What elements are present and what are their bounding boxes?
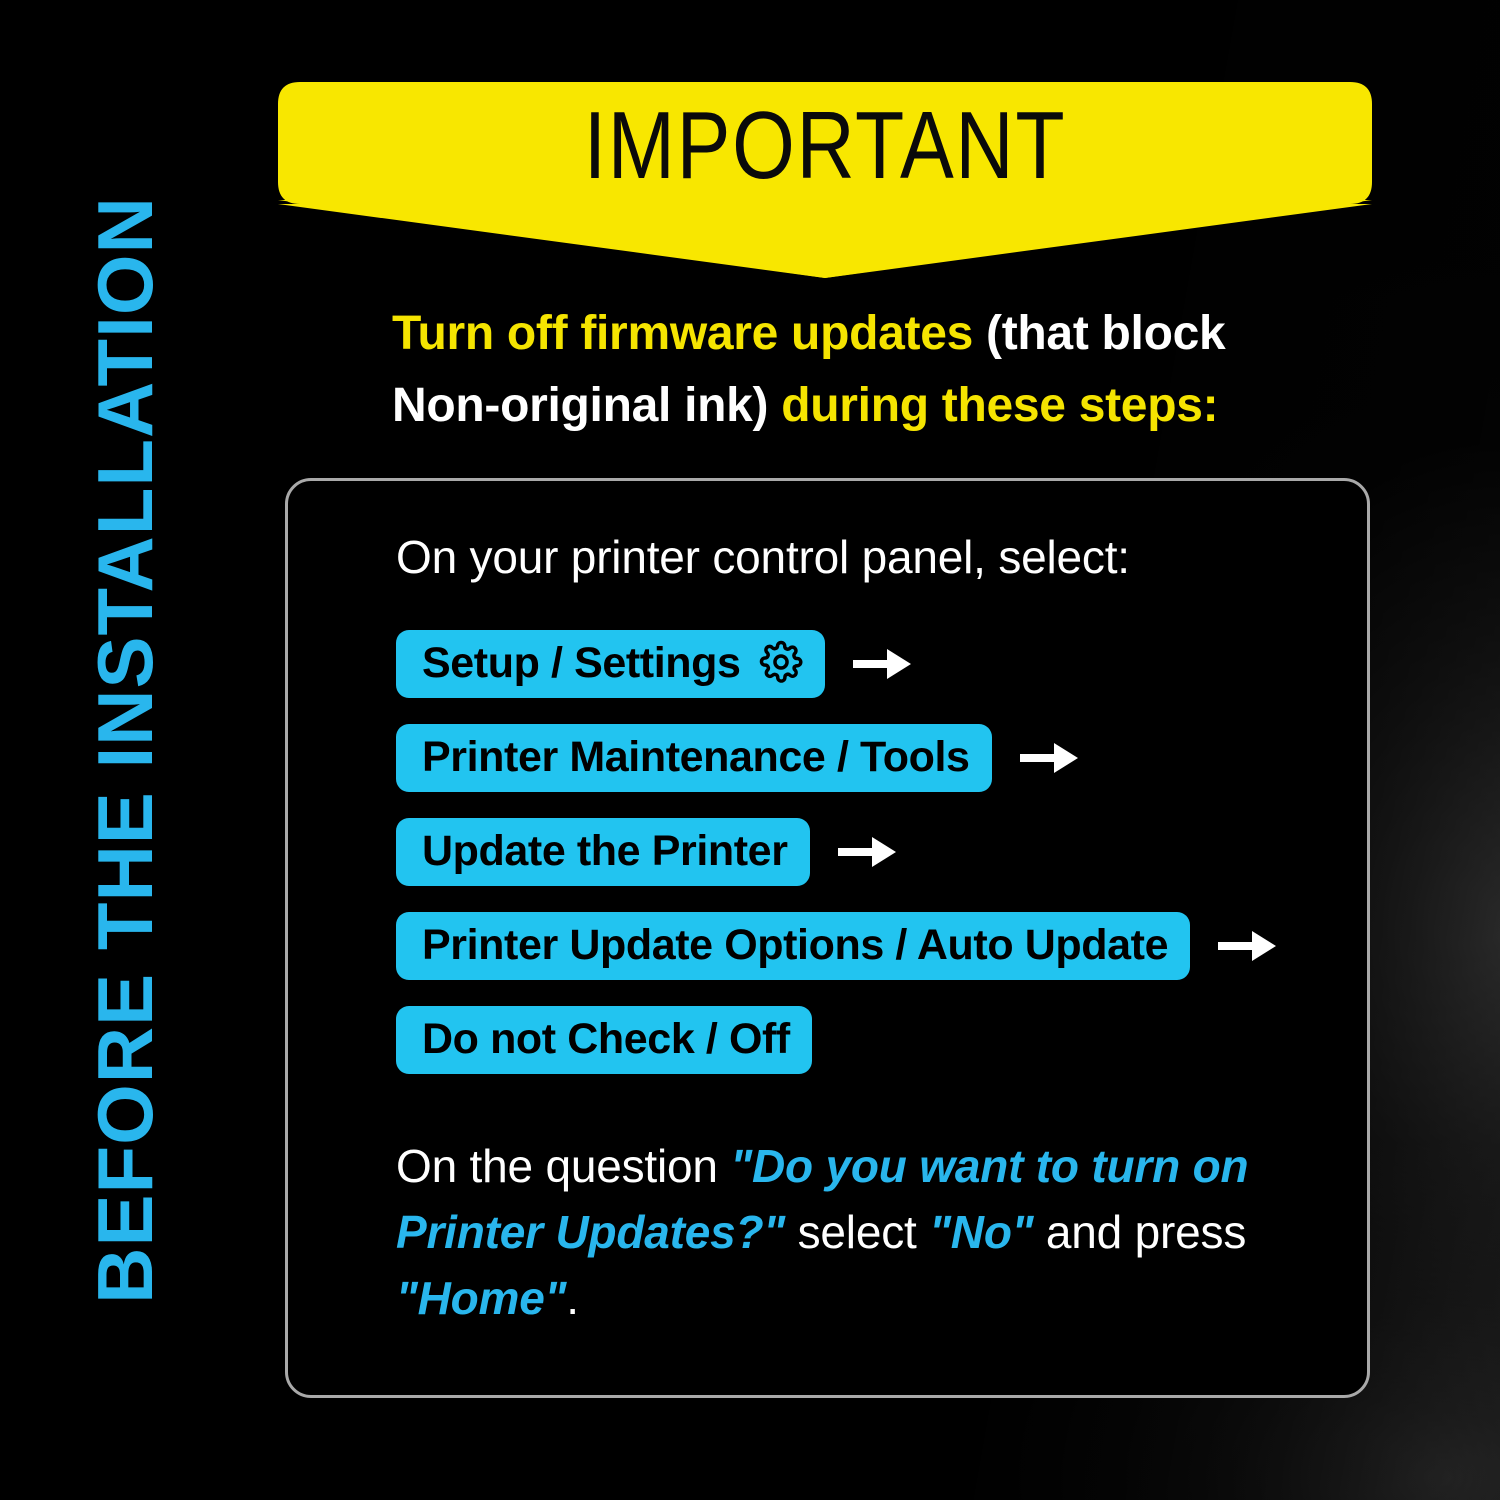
closing-text-1: On the question [396,1140,730,1192]
headline-part-3: during these steps: [768,379,1218,432]
arrow-right-icon [836,832,898,872]
closing-text-3: and press [1033,1206,1246,1258]
panel-lead-text: On your printer control panel, select: [396,529,1130,585]
arrow-right-icon [1018,738,1080,778]
arrow-right-icon [851,644,913,684]
side-title-label: BEFORE THE INSTALLATION [86,196,164,1304]
arrow-right-icon [1216,926,1278,966]
step-chip-setup-settings[interactable]: Setup / Settings [396,630,825,698]
closing-text-4: . [566,1272,579,1324]
closing-quote-home: "Home" [396,1272,566,1324]
step-chip-update-the-printer[interactable]: Update the Printer [396,818,810,886]
instructions-panel: On your printer control panel, select: S… [285,478,1370,1398]
closing-quote-no: "No" [929,1206,1033,1258]
banner-title: IMPORTANT [366,88,1285,204]
step-chip-label: Do not Check / Off [422,1018,790,1061]
step-row: Printer Maintenance / Tools [396,711,1326,805]
step-chip-label: Update the Printer [422,830,788,873]
important-banner: IMPORTANT [278,82,1372,278]
poster-canvas: BEFORE THE INSTALLATION IMPORTANT Turn o… [0,0,1500,1500]
headline: Turn off firmware updates (that block No… [392,298,1342,442]
step-chip-printer-update-options-auto-update[interactable]: Printer Update Options / Auto Update [396,912,1190,980]
step-chip-printer-maintenance-tools[interactable]: Printer Maintenance / Tools [396,724,992,792]
step-row: Setup / Settings [396,617,1326,711]
side-title: BEFORE THE INSTALLATION [0,0,250,1500]
headline-part-1: Turn off firmware updates [392,307,986,360]
closing-text-2: select [785,1206,929,1258]
step-row: Do not Check / Off [396,993,1326,1087]
step-chip-label: Printer Maintenance / Tools [422,736,970,779]
closing-paragraph: On the question "Do you want to turn on … [396,1133,1296,1331]
step-row: Update the Printer [396,805,1326,899]
step-row: Printer Update Options / Auto Update [396,899,1326,993]
step-chip-do-not-check-off[interactable]: Do not Check / Off [396,1006,812,1074]
gear-icon [759,640,803,684]
steps-list: Setup / Settings Printer M [396,617,1326,1087]
step-chip-label: Setup / Settings [422,642,741,685]
step-chip-label: Printer Update Options / Auto Update [422,924,1168,967]
